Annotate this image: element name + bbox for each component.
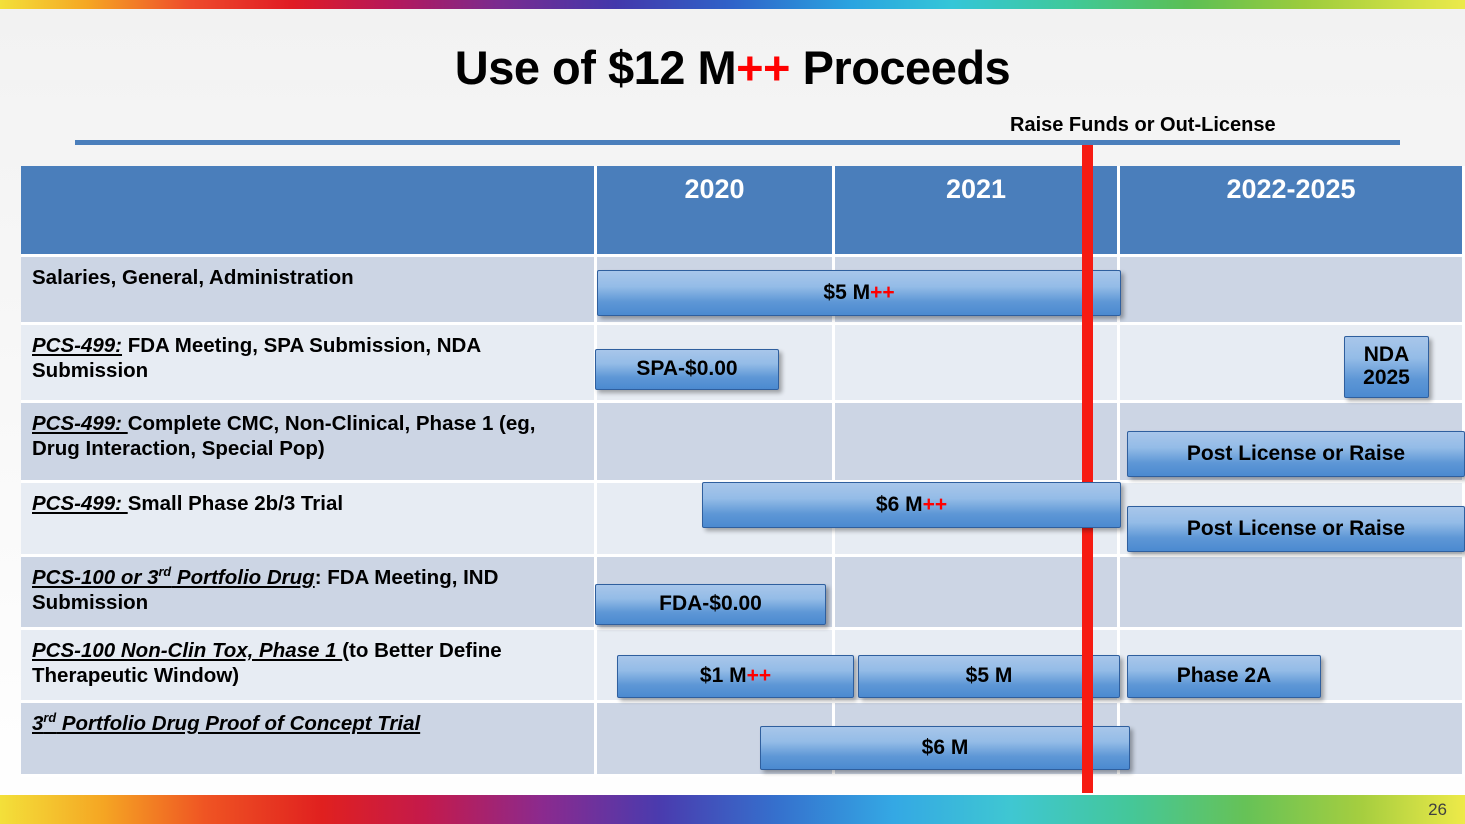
table-row: Salaries, General, Administration bbox=[21, 257, 1465, 325]
cell-pcs499cmc-2020 bbox=[597, 403, 835, 480]
slide-canvas: Use of $12 M++ Proceeds Raise Funds or O… bbox=[0, 0, 1465, 824]
cell-salaries-2020 bbox=[597, 257, 835, 322]
header-divider-rule bbox=[75, 140, 1400, 145]
table-row: PCS-499: FDA Meeting, SPA Submission, ND… bbox=[21, 325, 1465, 403]
row-label-emphasis: PCS-499: bbox=[32, 334, 122, 357]
row-label-emphasis: PCS-100 Non-Clin Tox, Phase 1 bbox=[32, 639, 342, 662]
table-row: PCS-499: Small Phase 2b/3 Trial bbox=[21, 483, 1465, 557]
cell-pcs499fda-2021 bbox=[835, 325, 1120, 400]
table-row: 3rd Portfolio Drug Proof of Concept Tria… bbox=[21, 703, 1465, 777]
cell-thirdpoc-2021 bbox=[835, 703, 1120, 774]
cell-pcs100fda-2022-2025 bbox=[1120, 557, 1465, 627]
timeline-table: 2020 2021 2022-2025 Salaries, General, A… bbox=[21, 166, 1465, 777]
row-label-salaries: Salaries, General, Administration bbox=[21, 257, 597, 322]
cell-pcs499fda-2022-2025 bbox=[1120, 325, 1465, 400]
page-number: 26 bbox=[1428, 800, 1447, 820]
table-row: PCS-100 or 3rd Portfolio Drug: FDA Meeti… bbox=[21, 557, 1465, 630]
cell-pcs499p23-2022-2025 bbox=[1120, 483, 1465, 554]
header-cell-2020: 2020 bbox=[597, 166, 835, 254]
cell-pcs499cmc-2021 bbox=[835, 403, 1120, 480]
raise-funds-marker-line bbox=[1082, 145, 1093, 793]
raise-funds-caption: Raise Funds or Out-License bbox=[1010, 114, 1276, 137]
row-label-text: Salaries, General, Administration bbox=[32, 266, 354, 289]
row-label-pcs100-nonclin-tox: PCS-100 Non-Clin Tox, Phase 1 (to Better… bbox=[21, 630, 597, 700]
row-label-emphasis: 3rd Portfolio Drug Proof of Concept Tria… bbox=[32, 712, 420, 735]
row-label-emphasis: PCS-499: bbox=[32, 412, 128, 435]
title-plus-plus: ++ bbox=[736, 41, 790, 94]
header-cell-2021: 2021 bbox=[835, 166, 1120, 254]
row-label-pcs499-phase2b3: PCS-499: Small Phase 2b/3 Trial bbox=[21, 483, 597, 554]
table-row: PCS-100 Non-Clin Tox, Phase 1 (to Better… bbox=[21, 630, 1465, 703]
cell-pcs100fda-2020 bbox=[597, 557, 835, 627]
table-row: PCS-499: Complete CMC, Non-Clinical, Pha… bbox=[21, 403, 1465, 483]
cell-pcs499p23-2020 bbox=[597, 483, 835, 554]
rainbow-bottom-border bbox=[0, 795, 1465, 824]
cell-pcs100tox-2021 bbox=[835, 630, 1120, 700]
cell-pcs100tox-2020 bbox=[597, 630, 835, 700]
row-label-third-portfolio-poc: 3rd Portfolio Drug Proof of Concept Tria… bbox=[21, 703, 597, 774]
row-label-emphasis: PCS-100 or 3rd Portfolio Drug bbox=[32, 566, 315, 589]
row-label-pcs499-fda-spa-nda: PCS-499: FDA Meeting, SPA Submission, ND… bbox=[21, 325, 597, 400]
title-prefix: Use of $12 M bbox=[455, 41, 736, 94]
header-cell-activity bbox=[21, 166, 597, 254]
cell-salaries-2021 bbox=[835, 257, 1120, 322]
header-cell-2022-2025: 2022-2025 bbox=[1120, 166, 1465, 254]
row-label-pcs100-fda-ind: PCS-100 or 3rd Portfolio Drug: FDA Meeti… bbox=[21, 557, 597, 627]
rainbow-top-border bbox=[0, 0, 1465, 9]
row-label-emphasis: PCS-499: bbox=[32, 492, 128, 515]
cell-thirdpoc-2022-2025 bbox=[1120, 703, 1465, 774]
table-header-row: 2020 2021 2022-2025 bbox=[21, 166, 1465, 257]
cell-pcs100tox-2022-2025 bbox=[1120, 630, 1465, 700]
title-suffix: Proceeds bbox=[790, 41, 1010, 94]
row-label-pcs499-cmc: PCS-499: Complete CMC, Non-Clinical, Pha… bbox=[21, 403, 597, 480]
cell-pcs499p23-2021 bbox=[835, 483, 1120, 554]
cell-pcs499fda-2020 bbox=[597, 325, 835, 400]
cell-pcs100fda-2021 bbox=[835, 557, 1120, 627]
cell-thirdpoc-2020 bbox=[597, 703, 835, 774]
row-label-text: Small Phase 2b/3 Trial bbox=[128, 492, 343, 515]
page-title: Use of $12 M++ Proceeds bbox=[0, 40, 1465, 95]
cell-salaries-2022-2025 bbox=[1120, 257, 1465, 322]
cell-pcs499cmc-2022-2025 bbox=[1120, 403, 1465, 480]
